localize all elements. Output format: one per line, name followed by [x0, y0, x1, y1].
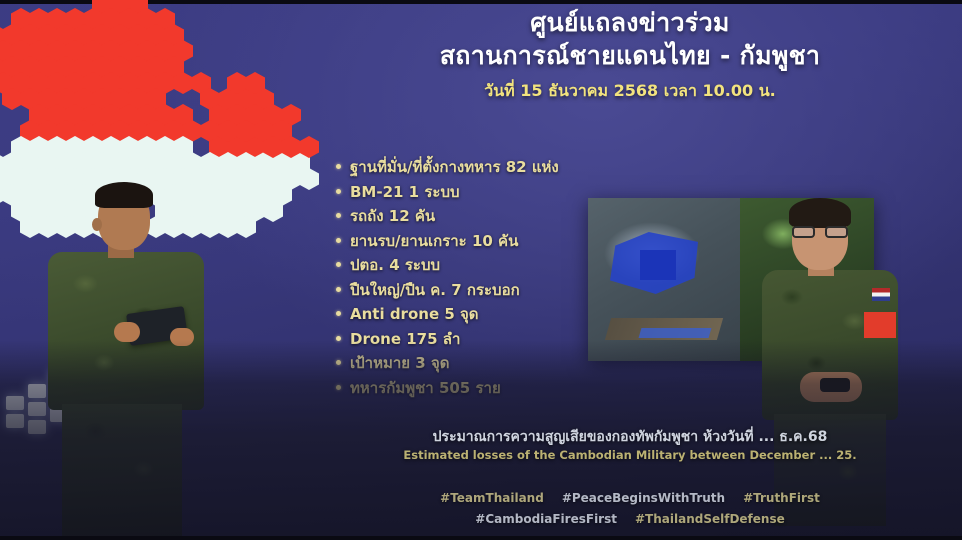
bullet-item: ปืนใหญ่/ปืน ค. 7 กระบอก — [336, 281, 591, 299]
bullet-item: ฐานที่มั่น/ที่ตั้งกางทหาร 82 แห่ง — [336, 158, 591, 176]
bullet-label: ฐานที่มั่น/ที่ตั้งกางทหาร 82 แห่ง — [350, 158, 559, 176]
bullet-label: BM-21 1 ระบบ — [350, 183, 460, 201]
speaker-hair — [789, 198, 851, 228]
bullet-dot-icon — [336, 336, 341, 341]
lower-third-banner: ประมาณการความสูญเสียของกองทัพกัมพูชา ห้ว… — [330, 428, 930, 463]
presenter-ear — [92, 218, 102, 231]
led-block — [6, 396, 24, 410]
bullet-label: ปตอ. 4 ระบบ — [350, 256, 440, 274]
broadcast-screen: ศูนย์แถลงข่าวร่วม สถานการณ์ชายแดนไทย - ก… — [0, 0, 962, 540]
led-block — [28, 420, 46, 434]
bullet-label: เป้าหมาย 3 จุด — [350, 354, 449, 372]
speaker-held-object — [820, 378, 850, 392]
presenter-legs — [62, 404, 182, 540]
on-screen-speaker — [760, 196, 910, 526]
bullet-dot-icon — [336, 360, 341, 365]
bullet-dot-icon — [336, 164, 341, 169]
bullet-item: รถถัง 12 คัน — [336, 207, 591, 225]
bullet-item: ปตอ. 4 ระบบ — [336, 256, 591, 274]
bullet-item: ทหารกัมพูชา 505 ราย — [336, 379, 591, 397]
bullet-item: เป้าหมาย 3 จุด — [336, 354, 591, 372]
bullet-dot-icon — [336, 238, 341, 243]
ground-bar-highlight — [639, 328, 712, 338]
bullet-label: รถถัง 12 คัน — [350, 207, 435, 225]
banner-thai-text: ประมาณการความสูญเสียของกองทัพกัมพูชา ห้ว… — [330, 428, 930, 447]
presenter-hair — [95, 182, 153, 208]
bullet-item: Drone 175 ลำ — [336, 330, 591, 348]
hashtag[interactable]: #PeaceBeginsWithTruth — [562, 488, 725, 508]
hashtag[interactable]: #TruthFirst — [743, 488, 820, 508]
hashtag[interactable]: #ThailandSelfDefense — [635, 509, 785, 529]
bullet-label: ทหารกัมพูชา 505 ราย — [350, 379, 501, 397]
bullet-label: ปืนใหญ่/ปืน ค. 7 กระบอก — [350, 281, 520, 299]
led-block — [28, 402, 46, 416]
bullet-item: BM-21 1 ระบบ — [336, 183, 591, 201]
glasses-icon — [792, 226, 848, 238]
banner-english-text: Estimated losses of the Cambodian Milita… — [330, 447, 930, 463]
hashtag-block: #TeamThailand#PeaceBeginsWithTruth#Truth… — [330, 487, 930, 529]
presenter-hand-right — [170, 328, 194, 346]
hexagon-dot-map-graphic — [0, 0, 256, 212]
presenter-figure — [48, 182, 218, 540]
presenter-hand-left — [114, 322, 140, 342]
aerial-photo-region — [588, 198, 740, 361]
casualty-bullet-list: ฐานที่มั่น/ที่ตั้งกางทหาร 82 แห่งBM-21 1… — [336, 158, 591, 403]
hashtag[interactable]: #TeamThailand — [440, 488, 544, 508]
bullet-dot-icon — [336, 311, 341, 316]
bullet-label: Drone 175 ลำ — [350, 330, 460, 348]
bullet-dot-icon — [336, 287, 341, 292]
bullet-label: ยานรบ/ยานเกราะ 10 คัน — [350, 232, 518, 250]
bullet-item: Anti drone 5 จุด — [336, 305, 591, 323]
bullet-label: Anti drone 5 จุด — [350, 305, 479, 323]
led-block — [28, 384, 46, 398]
bullet-dot-icon — [336, 262, 341, 267]
bullet-item: ยานรบ/ยานเกราะ 10 คัน — [336, 232, 591, 250]
bullet-dot-icon — [336, 385, 341, 390]
page-title-line2: สถานการณ์ชายแดนไทย - กัมพูชา — [330, 39, 930, 73]
hashtag[interactable]: #CambodiaFiresFirst — [475, 509, 617, 529]
hashtag-row-2: #CambodiaFiresFirst#ThailandSelfDefense — [330, 508, 930, 529]
page-title-line1: ศูนย์แถลงข่าวร่วม — [330, 6, 930, 39]
led-block — [6, 414, 24, 428]
letterbox-bottom — [0, 536, 962, 540]
speaker-red-patch — [864, 312, 896, 338]
thermal-structure-core — [640, 250, 676, 280]
briefing-date: วันที่ 15 ธันวาคม 2568 เวลา 10.00 น. — [330, 79, 930, 104]
bullet-dot-icon — [336, 213, 341, 218]
bullet-dot-icon — [336, 189, 341, 194]
hashtag-row-1: #TeamThailand#PeaceBeginsWithTruth#Truth… — [330, 487, 930, 508]
header-block: ศูนย์แถลงข่าวร่วม สถานการณ์ชายแดนไทย - ก… — [330, 6, 930, 104]
thai-flag-patch-icon — [872, 288, 890, 301]
